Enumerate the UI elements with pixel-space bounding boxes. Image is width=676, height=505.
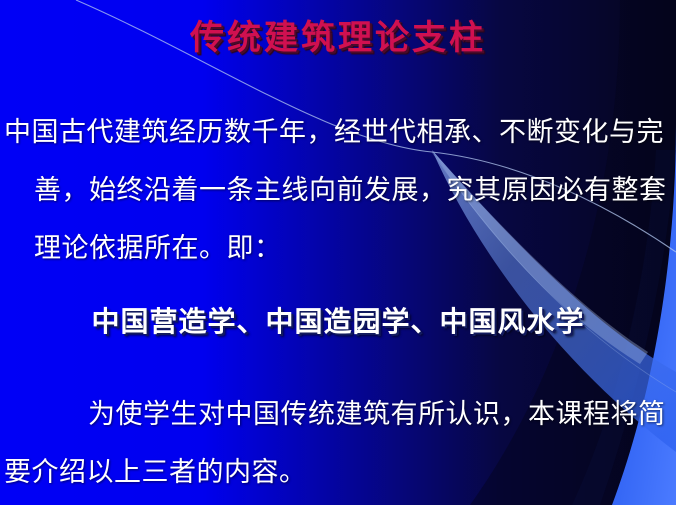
emphasis-text: 中国营造学、中国造园学、中国风水学: [0, 302, 676, 342]
page-title: 传统建筑理论支柱: [190, 18, 486, 58]
paragraph-2-line-1: 为使学生对中国传统建筑有所认识，本课程将简: [4, 386, 666, 444]
slide-content: 传统建筑理论支柱 中国古代建筑经历数千年，经世代相承、不断变化与完 善，始终沿着…: [0, 0, 676, 505]
paragraph-1-line-1: 中国古代建筑经历数千年，经世代相承、不断变化与完: [4, 104, 667, 162]
slide-title-block: 传统建筑理论支柱: [0, 18, 676, 58]
presentation-slide: 传统建筑理论支柱 中国古代建筑经历数千年，经世代相承、不断变化与完 善，始终沿着…: [0, 0, 676, 505]
body-paragraph-2: 为使学生对中国传统建筑有所认识，本课程将简 要介绍以上三者的内容。: [4, 386, 666, 502]
paragraph-1-line-2: 善，始终沿着一条主线向前发展，究其原因必有整套: [4, 162, 667, 220]
paragraph-2-line-2: 要介绍以上三者的内容。: [4, 444, 666, 502]
body-paragraph-1: 中国古代建筑经历数千年，经世代相承、不断变化与完 善，始终沿着一条主线向前发展，…: [4, 104, 667, 278]
paragraph-1-line-3: 理论依据所在。即：: [4, 220, 667, 278]
